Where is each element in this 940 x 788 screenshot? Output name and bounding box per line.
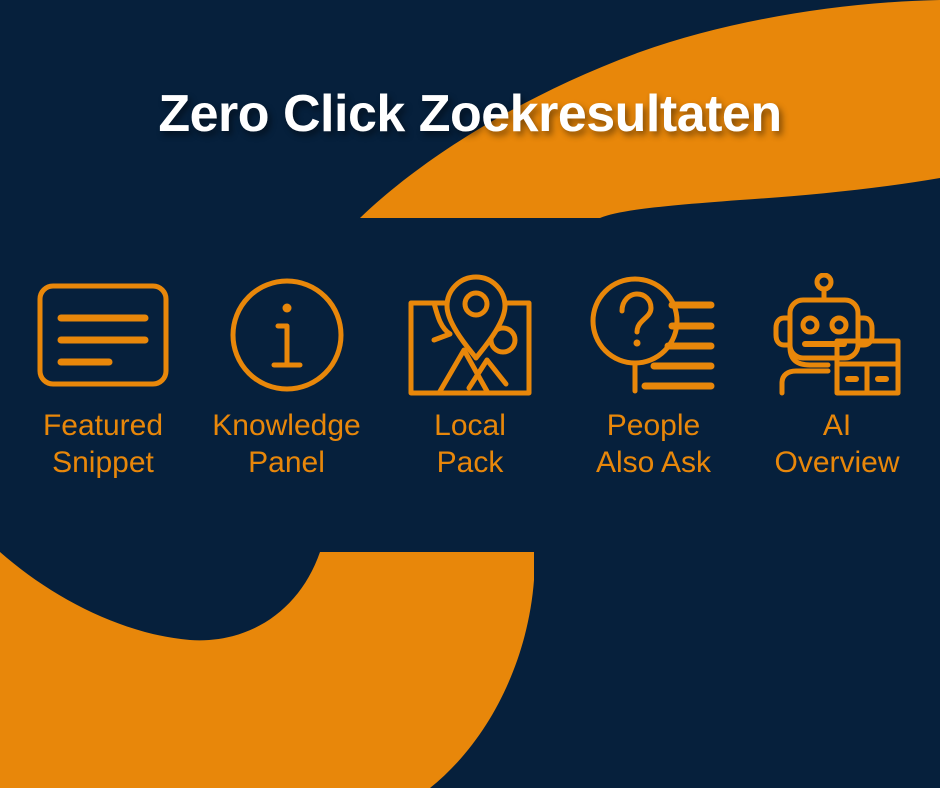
snippet-frame [40,286,166,384]
robot-icon [772,272,902,397]
info-stem [278,326,287,365]
infographic-canvas: Zero Click Zoekresultaten Featured Snipp… [0,0,940,788]
info-circle-icon [229,272,345,397]
map-pin-hole [465,293,487,315]
map-pin-icon [408,272,532,397]
info-dot [282,303,291,312]
card-featured-snippet[interactable]: Featured Snippet [14,272,192,481]
result-type-list: Featured Snippet Knowledge Panel [14,272,926,481]
page-title: Zero Click Zoekresultaten [0,84,940,144]
question-mark [622,294,651,332]
question-lines-icon [590,272,718,397]
card-label-local-pack: Local Pack [434,408,506,481]
card-label-featured-snippet: Featured Snippet [43,408,163,481]
card-label-knowledge-panel: Knowledge Panel [212,408,360,481]
robot-neck-lower [782,371,828,393]
robot-eye-left [803,318,817,332]
question-dot [633,339,640,346]
card-label-people-also-ask: People Also Ask [596,408,711,481]
card-local-pack[interactable]: Local Pack [381,272,559,481]
card-label-ai-overview: AI Overview [774,408,899,481]
robot-head [790,300,858,358]
snippet-card-icon [37,272,169,397]
card-ai-overview[interactable]: AI Overview [748,272,926,481]
card-knowledge-panel[interactable]: Knowledge Panel [198,272,376,481]
robot-eye-right [832,318,846,332]
card-people-also-ask[interactable]: People Also Ask [565,272,743,481]
question-circle [593,279,677,363]
